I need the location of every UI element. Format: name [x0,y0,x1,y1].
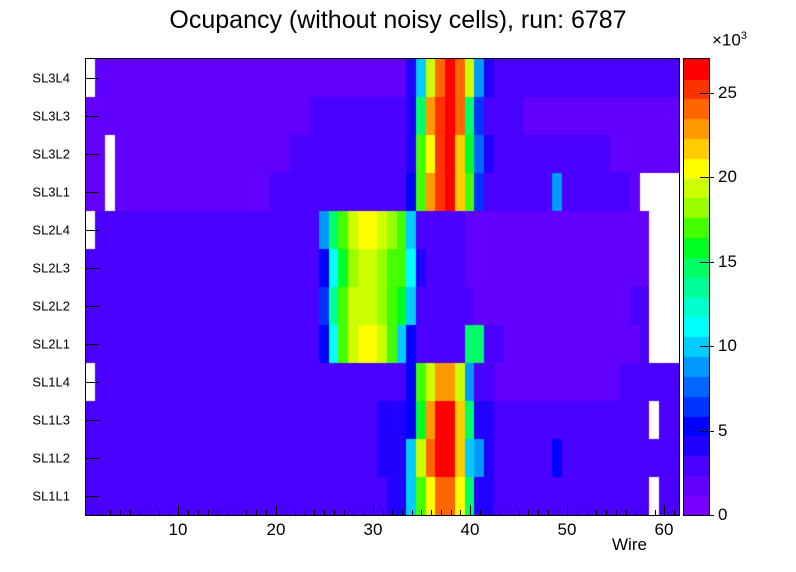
x-axis-minor-tick [499,510,500,516]
x-axis-minor-tick [596,510,597,516]
x-axis-tick-label: 50 [558,520,577,540]
y-axis-label-sl3l1: SL3L1 [32,185,70,200]
x-axis-minor-tick [421,510,422,516]
x-axis-minor-tick [509,510,510,516]
x-axis-minor-tick [480,510,481,516]
x-axis-minor-tick [295,510,296,516]
x-axis-minor-tick [548,510,549,516]
y-axis-tick [85,382,99,383]
x-axis-minor-tick [237,510,238,516]
x-axis-minor-tick [227,510,228,516]
color-bar-exponent-base: ×10 [712,31,741,50]
root-canvas: Ocupancy (without noisy cells), run: 678… [0,0,796,572]
x-axis-major-tick [567,505,568,516]
y-axis-tick [85,192,99,193]
color-bar-exponent-power: 3 [741,30,747,42]
x-axis-minor-tick [383,510,384,516]
x-axis-tick-label: 40 [461,520,480,540]
x-axis-minor-tick [519,510,520,516]
y-axis-label-sl1l3: SL1L3 [32,413,70,428]
x-axis-minor-tick [441,510,442,516]
x-axis-minor-tick [246,510,247,516]
y-axis-tick [85,344,99,345]
color-bar-tick [700,346,714,347]
x-axis-minor-tick [198,510,199,516]
color-bar-tick-label: 10 [718,336,737,356]
x-axis-minor-tick [489,510,490,516]
x-axis-tick-label: 60 [655,520,674,540]
color-bar-canvas [684,59,709,515]
x-axis-minor-tick [324,510,325,516]
page-title: Ocupancy (without noisy cells), run: 678… [0,6,796,35]
y-axis-label-sl3l4: SL3L4 [32,71,70,86]
y-axis-labels: SL3L4SL3L3SL3L2SL3L1SL2L4SL2L3SL2L2SL2L1… [0,58,82,516]
y-axis-tick [85,268,99,269]
x-axis-title: Wire [612,535,647,555]
color-bar-tick-label: 5 [718,421,727,441]
color-bar-exponent: ×103 [712,30,747,51]
color-bar-tick [700,93,714,94]
x-axis-minor-tick [149,510,150,516]
x-axis-minor-tick [130,510,131,516]
y-axis-label-sl2l1: SL2L1 [32,337,70,352]
x-axis-major-tick [470,505,471,516]
color-bar-tick [700,431,714,432]
x-axis-minor-tick [208,510,209,516]
color-bar-tick [700,515,714,516]
x-axis-major-tick [373,505,374,516]
x-axis-major-tick [276,505,277,516]
color-bar-tick-label: 0 [718,505,727,525]
y-axis-tick [85,496,99,497]
y-axis-tick [85,420,99,421]
y-axis-label-sl2l3: SL2L3 [32,261,70,276]
x-axis-minor-tick [587,510,588,516]
x-axis-minor-tick [363,510,364,516]
x-axis-minor-tick [120,510,121,516]
color-bar-tick-label: 15 [718,252,737,272]
y-axis-tick [85,306,99,307]
x-axis-minor-tick [538,510,539,516]
x-axis-minor-tick [616,510,617,516]
color-bar-tick-label: 25 [718,83,737,103]
x-axis-minor-tick [314,510,315,516]
x-axis-minor-tick [101,510,102,516]
y-axis-label-sl1l2: SL1L2 [32,451,70,466]
heatmap-plot-area[interactable] [85,58,680,516]
x-axis-minor-tick [159,510,160,516]
y-axis-tick [85,78,99,79]
x-axis-minor-tick [412,510,413,516]
heatmap-canvas[interactable] [86,59,679,515]
x-axis-minor-tick [285,510,286,516]
x-axis-minor-tick [577,510,578,516]
y-axis-tick [85,458,99,459]
x-axis-minor-tick [353,510,354,516]
color-bar-tick [700,177,714,178]
color-bar-tick [700,262,714,263]
y-axis-label-sl1l4: SL1L4 [32,375,70,390]
x-axis-major-tick [178,505,179,516]
x-axis-tick-label: 20 [267,520,286,540]
x-axis-minor-tick [402,510,403,516]
x-axis-minor-tick [557,510,558,516]
y-axis-tick [85,154,99,155]
x-axis-minor-tick [217,510,218,516]
color-bar [683,58,710,516]
x-axis-minor-tick [305,510,306,516]
x-axis-minor-tick [655,510,656,516]
x-axis-minor-tick [188,510,189,516]
x-axis-minor-tick [110,510,111,516]
x-axis-minor-tick [139,510,140,516]
color-bar-tick-label: 20 [718,167,737,187]
y-axis-label-sl1l1: SL1L1 [32,489,70,504]
x-axis-minor-tick [528,510,529,516]
x-axis-minor-tick [645,510,646,516]
x-axis-minor-tick [169,510,170,516]
y-axis-tick [85,116,99,117]
x-axis-minor-tick [451,510,452,516]
x-axis-minor-tick [334,510,335,516]
x-axis-minor-tick [256,510,257,516]
y-axis-label-sl3l2: SL3L2 [32,147,70,162]
x-axis-minor-tick [460,510,461,516]
y-axis-label-sl2l4: SL2L4 [32,223,70,238]
x-axis-major-tick [664,505,665,516]
x-axis-minor-tick [91,510,92,516]
y-axis-tick [85,230,99,231]
x-axis-minor-tick [674,510,675,516]
x-axis-minor-tick [431,510,432,516]
x-axis-minor-tick [606,510,607,516]
x-axis-minor-tick [392,510,393,516]
x-axis-minor-tick [344,510,345,516]
x-axis-tick-label: 10 [169,520,188,540]
y-axis-label-sl2l2: SL2L2 [32,299,70,314]
x-axis-minor-tick [626,510,627,516]
x-axis-minor-tick [266,510,267,516]
x-axis-tick-label: 30 [364,520,383,540]
y-axis-label-sl3l3: SL3L3 [32,109,70,124]
x-axis-minor-tick [635,510,636,516]
